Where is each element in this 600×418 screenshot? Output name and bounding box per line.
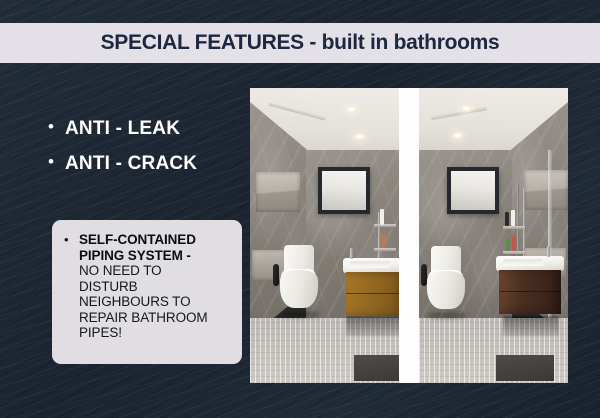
list-item: • ANTI - LEAK <box>48 118 248 140</box>
bullet-dot-icon: • <box>48 153 65 170</box>
bath-mat <box>496 355 554 381</box>
toiletry-bottle <box>380 209 384 225</box>
vanity-cabinet <box>499 270 561 314</box>
toiletry-bottle <box>505 212 509 226</box>
callout-text-block: SELF-CONTAINED PIPING SYSTEM - NO NEED T… <box>77 232 232 341</box>
frosted-window <box>318 167 370 214</box>
title-banner: SPECIAL FEATURES - built in bathrooms <box>0 23 600 63</box>
grab-bar <box>523 188 525 260</box>
shower-head <box>514 180 522 183</box>
toilet <box>280 245 318 311</box>
faucet <box>350 248 353 259</box>
callout-body-line-1: NO NEED TO <box>79 263 232 279</box>
toilet-shadow <box>427 312 467 319</box>
list-item: • ANTI - CRACK <box>48 153 248 175</box>
toiletry-bottle <box>511 210 515 226</box>
cabinet-seam <box>499 291 561 292</box>
ceiling-downlight-icon <box>461 106 472 112</box>
toilet-shadow <box>280 311 320 318</box>
toiletry-shelf <box>503 251 525 254</box>
shower-riser <box>517 180 519 252</box>
ceiling-downlight-icon <box>346 107 357 113</box>
toilet <box>427 246 465 312</box>
bullet-label: ANTI - CRACK <box>65 153 197 175</box>
callout-body-line-3: NEIGHBOURS TO <box>79 294 232 310</box>
bathroom-render-left <box>250 88 399 383</box>
faucet <box>547 246 550 257</box>
basin <box>503 259 543 266</box>
callout-card: • SELF-CONTAINED PIPING SYSTEM - NO NEED… <box>52 220 242 364</box>
feature-bullet-list: • ANTI - LEAK • ANTI - CRACK <box>48 118 248 188</box>
callout-body-line-4: REPAIR BATHROOM <box>79 310 232 326</box>
ceiling-downlight-icon <box>354 134 365 140</box>
callout-body-line-5: PIPES! <box>79 325 232 341</box>
cabinet-seam <box>346 293 399 294</box>
callout-heading-line-2: PIPING SYSTEM - <box>79 248 232 264</box>
toiletry-bottle <box>381 234 385 248</box>
toilet-bowl <box>427 271 465 309</box>
basin <box>350 261 390 268</box>
slide-canvas: SPECIAL FEATURES - built in bathrooms • … <box>0 0 600 418</box>
bathroom-photo-pair <box>250 88 568 383</box>
bath-mat <box>354 355 399 381</box>
vanity-shadow <box>503 316 559 336</box>
vanity-cabinet <box>346 272 399 316</box>
toiletry-shelf <box>503 226 525 229</box>
bullet-dot-icon: • <box>64 232 77 247</box>
bullet-label: ANTI - LEAK <box>65 118 180 140</box>
page-title: SPECIAL FEATURES - built in bathrooms <box>101 31 500 55</box>
vanity-basin <box>499 256 561 314</box>
ceiling-downlight-icon <box>452 133 463 139</box>
vanity-shadow <box>346 316 399 336</box>
toilet-bowl <box>280 270 318 308</box>
toiletry-bottle <box>512 236 516 251</box>
callout-body-line-2: DISTURB <box>79 279 232 295</box>
toiletry-shelf <box>374 224 396 227</box>
toilet-brush-holder <box>273 264 279 286</box>
wall-niche <box>256 172 300 212</box>
vanity-basin <box>346 258 399 316</box>
toilet-brush-holder <box>421 264 427 286</box>
bullet-dot-icon: • <box>48 118 65 135</box>
photo-divider <box>399 88 419 383</box>
bathroom-render-right <box>419 88 568 383</box>
frosted-window <box>447 167 499 214</box>
wall-niche <box>524 170 568 210</box>
toiletry-shelf <box>374 248 396 251</box>
callout-heading-line-1: SELF-CONTAINED <box>79 232 232 248</box>
toiletry-bottle <box>506 238 510 251</box>
